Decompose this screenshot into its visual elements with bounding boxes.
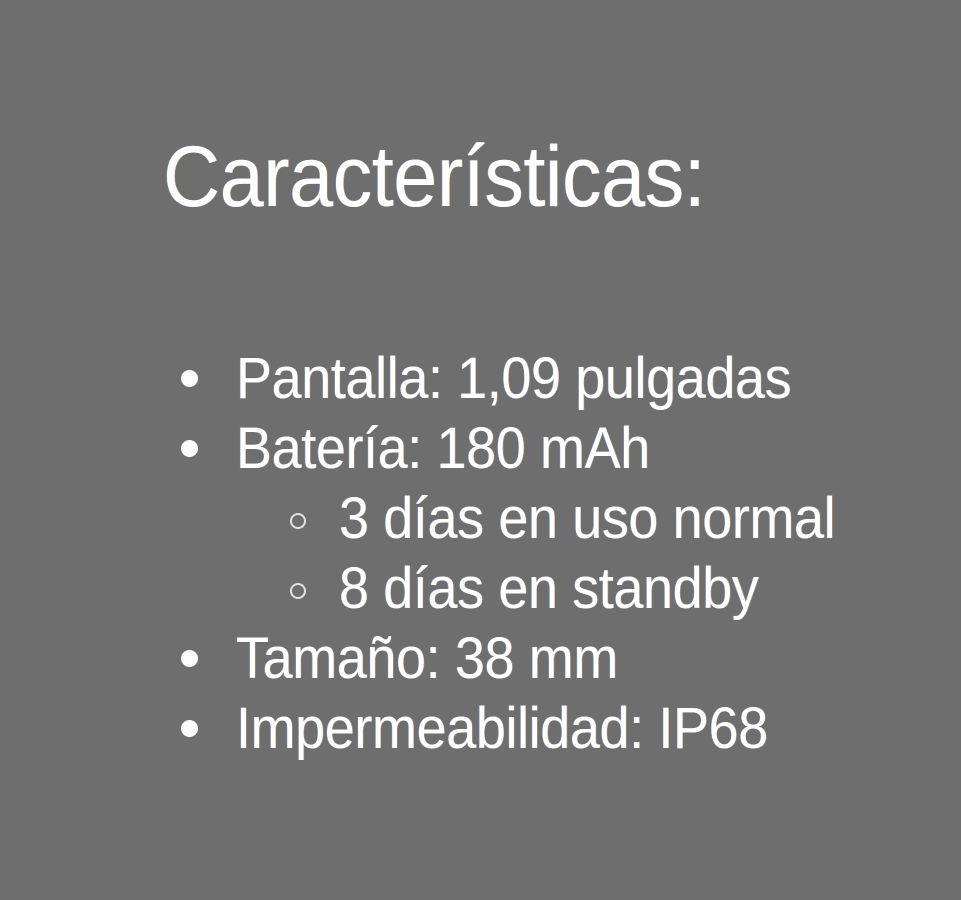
slide-content: Características: Pantalla: 1,09 pulgadas… [0,0,961,900]
filled-disc-bullet-icon [181,720,198,737]
slide-canvas: Características: Pantalla: 1,09 pulgadas… [0,0,961,900]
filled-disc-bullet-icon [181,650,198,667]
list-item-label: Impermeabilidad: IP68 [236,694,768,764]
filled-disc-bullet-icon [181,370,198,387]
list-item: Impermeabilidad: IP68 [0,694,961,764]
list-item-label: Pantalla: 1,09 pulgadas [236,344,791,414]
hollow-circle-bullet-icon [290,583,306,599]
page-title: Características: [163,132,705,222]
list-item-label: 8 días en standby [339,554,759,624]
filled-disc-bullet-icon [181,440,198,457]
list-item: 3 días en uso normal [0,484,961,554]
feature-list: Pantalla: 1,09 pulgadas Batería: 180 mAh… [0,344,961,764]
list-item: Batería: 180 mAh [0,414,961,484]
list-item-label: Tamaño: 38 mm [236,624,618,694]
list-item-label: 3 días en uso normal [339,484,835,554]
list-item: Pantalla: 1,09 pulgadas [0,344,961,414]
list-item: 8 días en standby [0,554,961,624]
list-item: Tamaño: 38 mm [0,624,961,694]
list-item-label: Batería: 180 mAh [236,414,650,484]
hollow-circle-bullet-icon [290,513,306,529]
